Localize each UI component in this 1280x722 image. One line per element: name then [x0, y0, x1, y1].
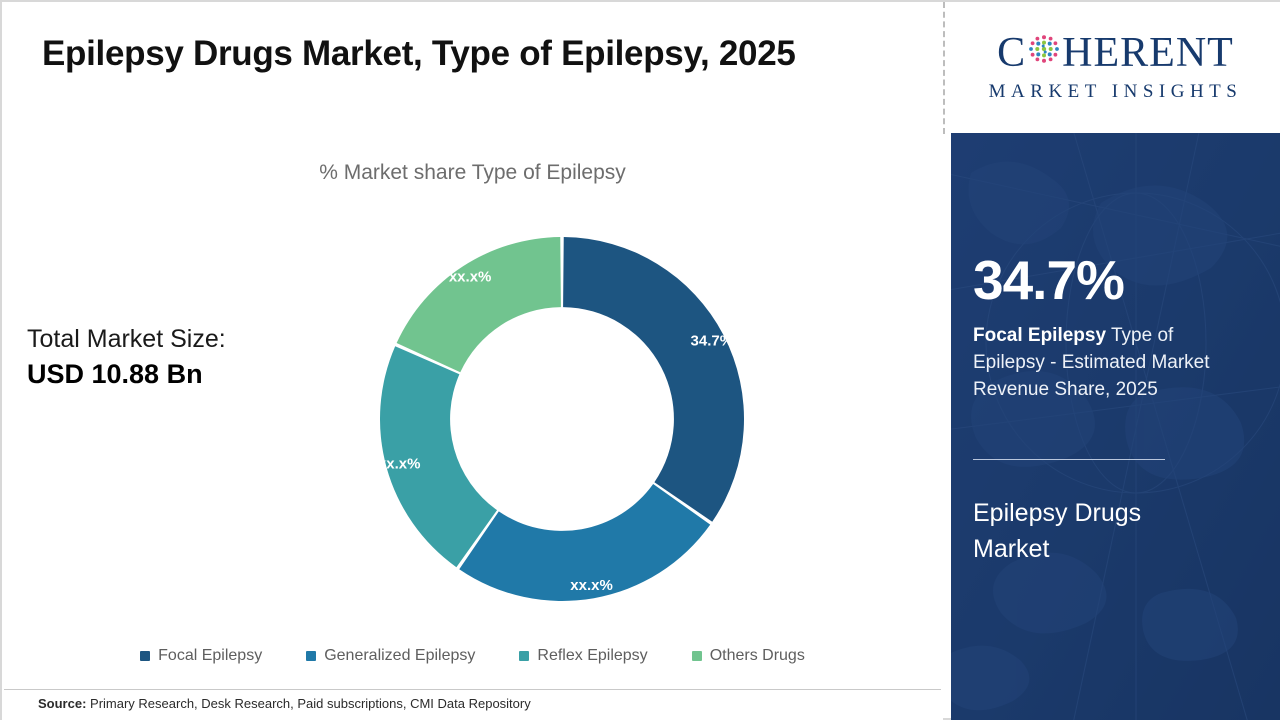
chart-subtitle: % Market share Type of Epilepsy	[2, 161, 943, 185]
total-market-size-label: Total Market Size:	[27, 324, 327, 355]
logo-tagline: MARKET INSIGHTS	[989, 81, 1243, 103]
legend-label: Reflex Epilepsy	[537, 647, 647, 665]
infographic-frame: Epilepsy Drugs Market, Type of Epilepsy,…	[0, 0, 1280, 720]
legend-item[interactable]: Focal Epilepsy	[140, 647, 262, 665]
source-label: Source:	[38, 696, 86, 711]
donut-slice	[397, 237, 561, 372]
source-divider	[4, 689, 941, 690]
donut-slice-label: xx.x%	[449, 269, 492, 286]
donut-slice-label: xx.x%	[380, 456, 420, 473]
stat-divider	[973, 459, 1165, 460]
legend-swatch-icon	[519, 651, 529, 661]
legend-swatch-icon	[692, 651, 702, 661]
source-note: Source: Primary Research, Desk Research,…	[38, 696, 531, 711]
legend-label: Others Drugs	[710, 647, 805, 665]
total-market-size-block: Total Market Size: USD 10.88 Bn	[27, 324, 327, 392]
donut-slice	[563, 237, 744, 522]
donut-chart: 34.7%xx.x%xx.x%xx.x%	[380, 237, 744, 601]
market-name: Epilepsy Drugs Market	[973, 496, 1223, 567]
source-text: Primary Research, Desk Research, Paid su…	[86, 696, 530, 711]
donut-chart-svg: 34.7%xx.x%xx.x%xx.x%	[380, 237, 744, 601]
legend-swatch-icon	[306, 651, 316, 661]
donut-slice-label: 34.7%	[691, 332, 734, 349]
legend-swatch-icon	[140, 651, 150, 661]
legend-item[interactable]: Reflex Epilepsy	[519, 647, 647, 665]
company-logo: C	[951, 2, 1280, 133]
chart-legend: Focal EpilepsyGeneralized EpilepsyReflex…	[2, 647, 943, 665]
stat-description-bold: Focal Epilepsy	[973, 325, 1106, 346]
chart-pane: Epilepsy Drugs Market, Type of Epilepsy,…	[2, 2, 943, 722]
world-map-texture	[951, 133, 1280, 720]
total-market-size-value: USD 10.88 Bn	[27, 357, 327, 392]
legend-item[interactable]: Others Drugs	[692, 647, 805, 665]
logo-word-herent: HERENT	[1062, 32, 1234, 74]
side-panel: C	[951, 2, 1280, 720]
logo-wordmark: C	[997, 32, 1234, 74]
legend-label: Focal Epilepsy	[158, 647, 262, 665]
logo-letter-c: C	[997, 32, 1026, 74]
vertical-dashed-divider	[943, 2, 945, 134]
donut-slice-label: xx.x%	[570, 577, 613, 594]
legend-item[interactable]: Generalized Epilepsy	[306, 647, 475, 665]
legend-label: Generalized Epilepsy	[324, 647, 475, 665]
page-title: Epilepsy Drugs Market, Type of Epilepsy,…	[42, 34, 796, 74]
stat-description: Focal Epilepsy Type of Epilepsy - Estima…	[973, 323, 1217, 404]
stat-highlight-panel: 34.7% Focal Epilepsy Type of Epilepsy - …	[951, 133, 1280, 720]
globe-dots-icon	[1027, 32, 1061, 74]
stat-value: 34.7%	[973, 253, 1124, 308]
